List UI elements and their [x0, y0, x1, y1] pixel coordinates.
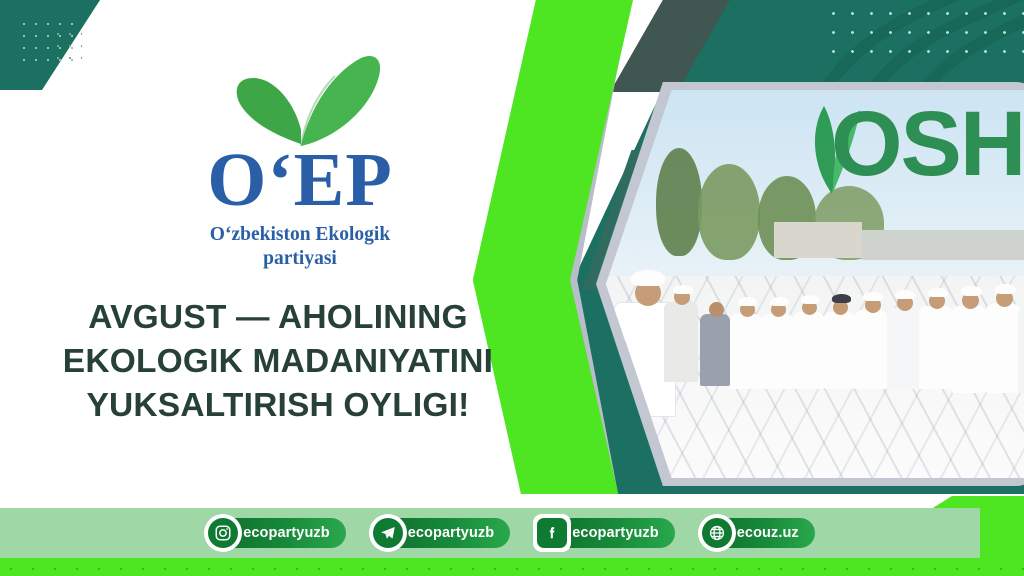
person-12: [1018, 236, 1024, 393]
instagram-icon: [204, 514, 242, 552]
social-handle-facebook: ecopartyuzb: [572, 525, 659, 541]
headline-line-2: EKOLOGIK MADANIYATINI: [0, 340, 556, 384]
logo-subtitle-line1: O‘zbekiston Ekologik: [150, 223, 450, 247]
social-link-instagram[interactable]: ecopartyuzb: [209, 518, 346, 548]
social-link-facebook[interactable]: ecopartyuzb: [538, 518, 675, 548]
person-5: [793, 249, 824, 389]
person-10: [952, 232, 986, 392]
person-9: [919, 236, 952, 390]
person-7: [855, 242, 887, 389]
two-leaves-icon: [205, 52, 395, 150]
person-6: [824, 246, 855, 389]
footer-dot-pattern: [0, 558, 1024, 576]
crowd-group: [606, 222, 1024, 393]
facebook-icon: [533, 514, 571, 552]
headline: AVGUST — AHOLINING EKOLOGIK MADANIYATINI…: [0, 296, 556, 429]
poster-canvas: OSHL: [0, 0, 1024, 576]
person-2: [700, 253, 730, 386]
logo-acronym: O‘EP: [150, 144, 450, 217]
person-3: [730, 253, 762, 390]
headline-line-3: YUKSALTIRISH OYLIGI!: [0, 384, 556, 428]
person-4: [762, 253, 793, 390]
headline-line-1: AVGUST — AHOLINING: [0, 296, 556, 340]
social-handle-instagram: ecopartyuzb: [243, 525, 330, 541]
telegram-icon: [369, 514, 407, 552]
social-link-website[interactable]: ecouz.uz: [703, 518, 815, 548]
person-1: [664, 239, 698, 382]
social-handle-telegram: ecopartyuzb: [408, 525, 495, 541]
event-photo: OSHL: [606, 90, 1024, 478]
logo-subtitle: O‘zbekiston Ekologik partiyasi: [150, 223, 450, 271]
social-links-row: ecopartyuzb ecopartyuzb: [0, 508, 1024, 558]
social-handle-website: ecouz.uz: [737, 525, 799, 541]
person-8: [887, 239, 919, 389]
oep-logo: O‘EP O‘zbekiston Ekologik partiyasi: [150, 52, 450, 271]
dot-grid-top-right: [824, 4, 1024, 62]
person-11: [986, 229, 1020, 393]
logo-subtitle-line2: partiyasi: [150, 247, 450, 271]
dot-grid-top-left-outer: [52, 28, 82, 68]
social-link-telegram[interactable]: ecopartyuzb: [374, 518, 511, 548]
globe-icon: [698, 514, 736, 552]
footer-white-strip: [0, 494, 1024, 508]
photo-sign-text: OSHL: [831, 98, 1024, 190]
